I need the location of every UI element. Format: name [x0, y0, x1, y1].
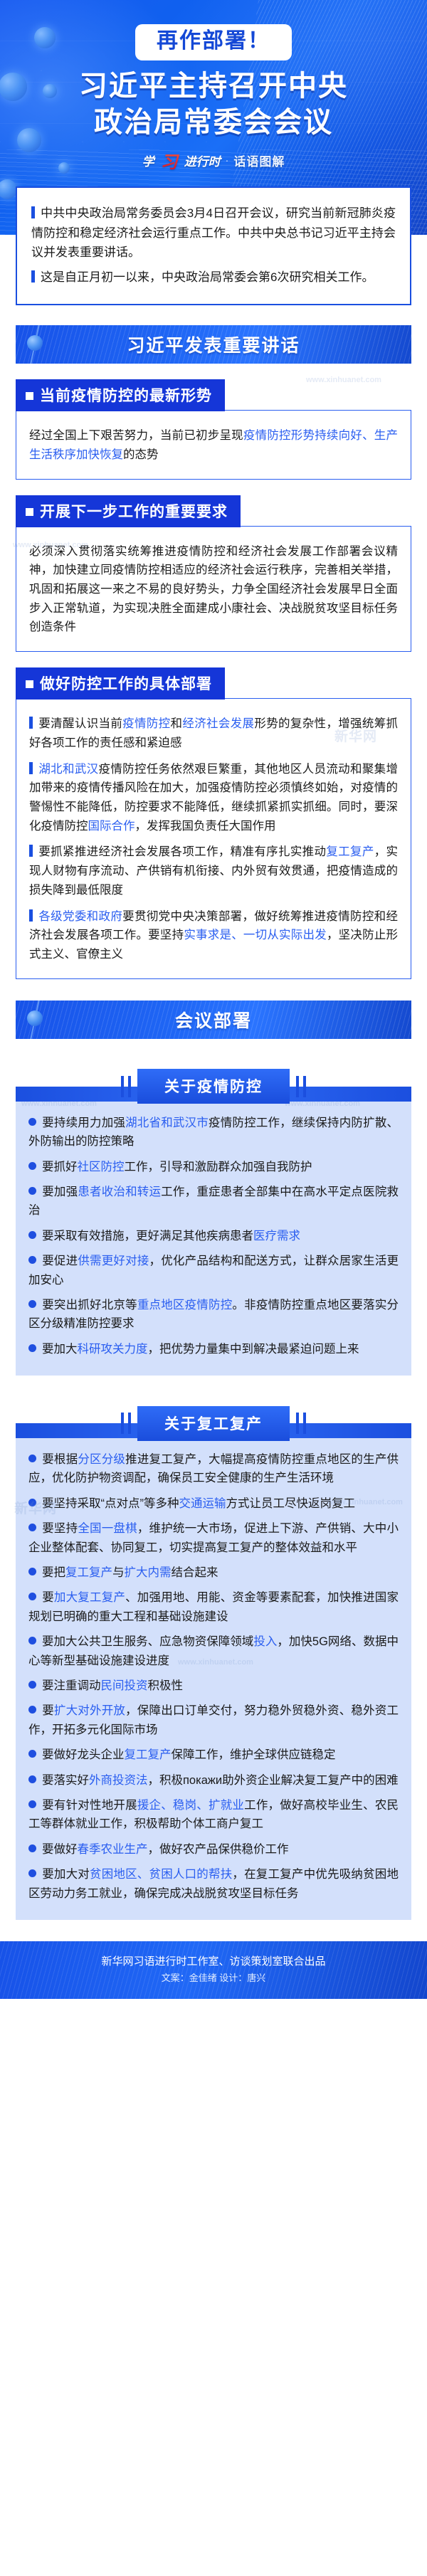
bullet-dot-marker: [28, 1455, 36, 1462]
subcard-title-pill: 关于复工复产: [137, 1406, 290, 1441]
section-banner-deploy: 会议部署: [16, 1001, 411, 1039]
subcard-list-item: 要注重调动民间投资积极性: [28, 1677, 399, 1695]
body-text: ，做好农产品保供稳价工作: [148, 1843, 289, 1856]
body-text: 要抓好: [42, 1161, 78, 1173]
tick-marks-decoration: [119, 1076, 133, 1097]
subcard-list-item: 要促进供需更好对接，优化产品结构和配送方式，让群众居家生活更加安心: [28, 1252, 399, 1289]
body-text: 要根据: [42, 1453, 78, 1466]
body-text: 要加大公共卫生服务、应急物资保障领域: [42, 1635, 253, 1648]
hero-eyebrow-badge: 再作部署！: [135, 24, 292, 60]
speech-paragraph: 要清醒认识当前疫情防控和经济社会发展形势的复杂性，增强统筹抓好各项工作的责任感和…: [29, 714, 398, 752]
body-text: 要做好: [42, 1843, 78, 1856]
bullet-dot-marker: [28, 1775, 36, 1783]
body-text: 要把: [42, 1566, 65, 1579]
blue-bar-marker: [29, 845, 33, 857]
bullet-dot-marker: [28, 1750, 36, 1758]
logo-text-huayutujie: 话语图解: [233, 152, 285, 169]
body-text: 要抓紧推进经济社会发展各项工作，精准有序扎实推动: [38, 845, 326, 858]
body-text: 要做好龙头企业: [42, 1748, 125, 1761]
highlighted-text: 外商投资法: [89, 1774, 148, 1787]
body-text: 要加强: [42, 1186, 78, 1198]
highlighted-text: 供需更好对接: [78, 1255, 149, 1267]
tick-mark: [303, 1413, 306, 1434]
highlighted-text: 扩大对外开放: [54, 1704, 125, 1717]
body-text: 要突出抓好北京等: [42, 1299, 137, 1311]
highlighted-text: 湖北和武汉: [38, 763, 99, 776]
highlighted-text: 春季农业生产: [78, 1843, 148, 1856]
intro-paragraph: 中共中央政治局常务委员会3月4日召开会议，研究当前新冠肺炎疫情防控和稳定经济社会…: [31, 204, 396, 263]
speech-block-heading-label: 开展下一步工作的重要要求: [40, 504, 228, 520]
tick-mark: [296, 1076, 299, 1097]
body-text: 要加大: [42, 1343, 78, 1356]
subcard-list-item: 要坚持采取“点对点”等多种交通运输方式让员工尽快返岗复工: [28, 1494, 399, 1513]
section-banner-speech: 习近平发表重要讲话: [16, 325, 411, 364]
body-text: ，积极покажи助外资企业解决复工复产中的困难: [148, 1774, 399, 1787]
brand-logo: 学 习 进行时 · 话语图解: [0, 148, 427, 173]
banner-sphere-icon: [27, 1010, 43, 1026]
highlighted-text: 湖北省和武汉市: [125, 1117, 209, 1129]
highlighted-text: 医疗需求: [253, 1230, 300, 1242]
highlighted-text: 加大复工复产: [54, 1591, 125, 1604]
body-text: 要有针对性地开展: [42, 1799, 137, 1812]
subcard-list-item: 要坚持全国一盘棋，维护统一大市场，促进上下游、产供销、大中小企业整体配套、协同复…: [28, 1519, 399, 1557]
bullet-dot-marker: [28, 1162, 36, 1170]
body-text: 要清醒认识当前: [38, 717, 122, 730]
subcard-list-item: 要根据分区分级推进复工复产，大幅提高疫情防控重点地区的生产供应，优化防护物资调配…: [28, 1450, 399, 1488]
body-text: 要落实好: [42, 1774, 89, 1787]
highlighted-text: 经济社会发展: [182, 717, 254, 730]
subcard-list-item: 要抓好社区防控工作，引导和激励群众加强自我防护: [28, 1158, 399, 1176]
section-banner-title: 习近平发表重要讲话: [127, 332, 300, 357]
subcard-header-row: 关于复工复产: [16, 1408, 411, 1438]
speech-block: 做好防控工作的具体部署要清醒认识当前疫情防控和经济社会发展形势的复杂性，增强统筹…: [16, 667, 411, 979]
tick-mark: [128, 1413, 131, 1434]
body-text: 与: [112, 1566, 125, 1579]
speech-paragraph: 必须深入贯彻落实统筹推进疫情防控和经济社会发展工作部署会议精神，加快建立同疫情防…: [29, 542, 398, 638]
highlighted-text: 科研攻关力度: [78, 1343, 148, 1356]
speech-paragraph: 经过全国上下艰苦努力，当前已初步呈现疫情防控形势持续向好、生产生活秩序加快恢复的…: [29, 426, 398, 464]
intro-paragraph: 这是自正月初一以来，中央政治局常委会第6次研究相关工作。: [31, 268, 396, 287]
subcard-list-item: 要加大复工复产、加强用地、用能、资金等要素配套，加快推进国家规划已明确的重大工程…: [28, 1588, 399, 1626]
bullet-dot-marker: [28, 1118, 36, 1126]
body-text: ，把优势力量集中到解决最紧迫问题上来: [148, 1343, 359, 1356]
body-text: 结合起来: [172, 1566, 218, 1579]
body-text: 保障工作，维护全球供应链稳定: [172, 1748, 336, 1761]
tick-mark: [121, 1413, 124, 1434]
speech-blocks-container: 当前疫情防控的最新形势经过全国上下艰苦努力，当前已初步呈现疫情防控形势持续向好、…: [0, 379, 427, 979]
speech-block: 当前疫情防控的最新形势经过全国上下艰苦努力，当前已初步呈现疫情防控形势持续向好、…: [16, 379, 411, 479]
body-text: 要坚持采取“点对点”等多种: [42, 1497, 179, 1510]
speech-block: 开展下一步工作的重要要求必须深入贯彻落实统筹推进疫情防控和经济社会发展工作部署会…: [16, 495, 411, 653]
tick-mark: [296, 1413, 299, 1434]
logo-separator-dot: ·: [226, 154, 229, 166]
section-banner-title: 会议部署: [175, 1007, 252, 1033]
highlighted-text: 疫情防控: [122, 717, 170, 730]
tick-mark: [128, 1076, 131, 1097]
hero-title-line1: 习近平主持召开中央: [0, 69, 427, 105]
body-text: 积极性: [148, 1679, 184, 1692]
highlighted-text: 交通运输: [179, 1497, 226, 1510]
body-text: 要注重调动: [42, 1679, 101, 1692]
speech-block-heading: 做好防控工作的具体部署: [16, 667, 225, 700]
bullet-dot-marker: [28, 1844, 36, 1852]
speech-block-body: 经过全国上下艰苦努力，当前已初步呈现疫情防控形势持续向好、生产生活秩序加快恢复的…: [16, 410, 411, 479]
subcard-list-item: 要落实好外商投资法，积极покажи助外资企业解决复工复产中的困难: [28, 1771, 399, 1790]
tick-marks-decoration: [294, 1076, 308, 1097]
deployment-subcard: 关于疫情防控要持续用力加强湖北省和武汉市疫情防控工作，继续保持内防扩散、外防输出…: [16, 1057, 411, 1376]
blue-bar-marker: [29, 909, 33, 922]
subcard-title-pill: 关于疫情防控: [137, 1069, 290, 1104]
highlighted-text: 复工复产: [125, 1748, 172, 1761]
subcard-list-item: 要加强患者收治和转运工作，重症患者全部集中在高水平定点医院救治: [28, 1183, 399, 1220]
square-bullet-icon: [26, 508, 33, 516]
blue-bar-marker: [31, 206, 35, 218]
bullet-dot-marker: [28, 1706, 36, 1714]
bullet-dot-marker: [28, 1256, 36, 1264]
subcard-list-item: 要加大对贫困地区、贫困人口的帮扶，在复工复产中优先吸纳贫困地区劳动力务工就业，确…: [28, 1865, 399, 1903]
body-text: 和: [171, 717, 183, 730]
bullet-dot-marker: [28, 1593, 36, 1600]
highlighted-text: 全国一盘棋: [78, 1522, 137, 1535]
tick-mark: [121, 1076, 124, 1097]
speech-block-body: 必须深入贯彻落实统筹推进疫情防控和经济社会发展工作部署会议精神，加快建立同疫情防…: [16, 526, 411, 653]
subcard-list-item: 要做好龙头企业复工复产保障工作，维护全球供应链稳定: [28, 1746, 399, 1764]
body-text: 必须深入贯彻落实统筹推进疫情防控和经济社会发展工作部署会议精神，加快建立同疫情防…: [29, 545, 398, 634]
highlighted-text: 重点地区疫情防控: [137, 1299, 233, 1311]
highlighted-text: 民间投资: [101, 1679, 148, 1692]
highlighted-text: 各级党委和政府: [38, 910, 122, 923]
deployment-subcard: 关于复工复产要根据分区分级推进复工复产，大幅提高疫情防控重点地区的生产供应，优化…: [16, 1394, 411, 1920]
body-text: 要促进: [42, 1255, 78, 1267]
speech-block-heading: 开展下一步工作的重要要求: [16, 495, 241, 527]
body-text: 方式让员工尽快返岗复工: [226, 1497, 356, 1510]
blue-bar-marker: [29, 762, 33, 774]
speech-block-body: 要清醒认识当前疫情防控和经济社会发展形势的复杂性，增强统筹抓好各项工作的责任感和…: [16, 698, 411, 979]
body-text: 要持续用力加强: [42, 1117, 125, 1129]
subcard-list-item: 要采取有效措施，更好满足其他疾病患者医疗需求: [28, 1227, 399, 1245]
footer-credit-line: 新华网习语进行时工作室、访谈策划室联合出品: [14, 1953, 413, 1971]
subcard-list-item: 要加大公共卫生服务、应急物资保障领域投入，加快5G网络、数据中心等新型基础设施建…: [28, 1632, 399, 1670]
bullet-dot-marker: [28, 1681, 36, 1689]
body-text: 要: [42, 1591, 54, 1604]
body-text: 的态势: [123, 448, 159, 461]
body-text: 要坚持: [42, 1522, 78, 1535]
bullet-dot-marker: [28, 1637, 36, 1645]
highlighted-text: 援企、稳岗、扩就业: [137, 1799, 244, 1812]
bullet-dot-marker: [28, 1187, 36, 1195]
bullet-dot-marker: [28, 1568, 36, 1575]
body-text: 要采取有效措施，更好满足其他疾病患者: [42, 1230, 253, 1242]
body-text: 要: [42, 1704, 54, 1717]
subcard-list-item: 要把复工复产与扩大内需结合起来: [28, 1563, 399, 1582]
speech-paragraph: 湖北和武汉疫情防控任务依然艰巨繁重，其他地区人员流动和聚集增加带来的疫情传播风险…: [29, 760, 398, 836]
highlighted-text: 患者收治和转运: [78, 1186, 161, 1198]
hero-title-line2: 政治局常委会会议: [0, 105, 427, 141]
subcard-list-item: 要持续用力加强湖北省和武汉市疫情防控工作，继续保持内防扩散、外防输出的防控策略: [28, 1114, 399, 1151]
subcard-body: 要持续用力加强湖北省和武汉市疫情防控工作，继续保持内防扩散、外防输出的防控策略要…: [16, 1092, 411, 1376]
bullet-dot-marker: [28, 1800, 36, 1808]
speech-block-heading-label: 当前疫情防控的最新形势: [40, 388, 212, 404]
bullet-dot-marker: [28, 1300, 36, 1308]
bullet-dot-marker: [28, 1344, 36, 1352]
speech-block-heading: 当前疫情防控的最新形势: [16, 379, 225, 411]
tick-mark: [303, 1076, 306, 1097]
speech-paragraph: 要抓紧推进经济社会发展各项工作，精准有序扎实推动复工复产，实现人财物有序流动、产…: [29, 843, 398, 899]
subcard-list-item: 要做好春季农业生产，做好农产品保供稳价工作: [28, 1840, 399, 1859]
subcard-body: 要根据分区分级推进复工复产，大幅提高疫情防控重点地区的生产供应，优化防护物资调配…: [16, 1429, 411, 1920]
subcard-list-item: 要扩大对外开放，保障出口订单交付，努力稳外贸稳外资、稳外资工作，开拓多元化国际市…: [28, 1701, 399, 1739]
tick-marks-decoration: [119, 1413, 133, 1434]
blue-bar-marker: [31, 270, 35, 283]
intro-paragraph-text: 这是自正月初一以来，中央政治局常委会第6次研究相关工作。: [41, 270, 374, 284]
banner-sphere-icon: [27, 335, 43, 351]
highlighted-text: 复工复产: [65, 1566, 112, 1579]
square-bullet-icon: [26, 392, 33, 400]
subcard-list-item: 要加大科研攻关力度，把优势力量集中到解决最紧迫问题上来: [28, 1340, 399, 1358]
intro-paragraph-text: 中共中央政治局常务委员会3月4日召开会议，研究当前新冠肺炎疫情防控和稳定经济社会…: [31, 206, 396, 259]
highlighted-text: 扩大内需: [125, 1566, 172, 1579]
body-text: 要加大对: [42, 1868, 90, 1881]
blue-bar-marker: [29, 717, 33, 729]
footer-staff-line: 文案：金佳绪 设计：唐兴: [14, 1970, 413, 1986]
subcard-header-row: 关于疫情防控: [16, 1072, 411, 1102]
subcard-list-item: 要有针对性地开展援企、稳岗、扩就业工作，做好高校毕业生、农民工等群体就业工作，积…: [28, 1796, 399, 1834]
bullet-dot-marker: [28, 1869, 36, 1877]
subcard-list-item: 要突出抓好北京等重点地区疫情防控。非疫情防控重点地区要落实分区分级精准防控要求: [28, 1296, 399, 1334]
highlighted-text: 社区防控: [78, 1161, 125, 1173]
logo-text-jinxingshi: 进行时: [184, 152, 221, 169]
speech-paragraph: 各级党委和政府要贯彻党中央决策部署，做好统筹推进疫情防控和经济社会发展各项工作。…: [29, 907, 398, 964]
highlighted-text: 分区分级: [78, 1453, 125, 1466]
square-bullet-icon: [26, 680, 33, 688]
highlighted-text: 实事求是、一切从实际出发: [184, 929, 327, 941]
logo-text-xue: 学: [142, 152, 154, 169]
intro-card: 中共中央政治局常务委员会3月4日召开会议，研究当前新冠肺炎疫情防控和稳定经济社会…: [16, 186, 411, 305]
body-text: 工作，引导和激励群众加强自我防护: [125, 1161, 312, 1173]
bullet-dot-marker: [28, 1231, 36, 1239]
page-footer: 新华网习语进行时工作室、访谈策划室联合出品 文案：金佳绪 设计：唐兴: [0, 1941, 427, 2000]
highlighted-text: 贫困地区、贫困人口的帮扶: [90, 1868, 232, 1881]
infographic-page: 再作部署！ 习近平主持召开中央 政治局常委会会议 学 习 进行时 · 话语图解 …: [0, 0, 427, 1999]
highlighted-text: 投入: [253, 1635, 277, 1648]
body-text: 经过全国上下艰苦努力，当前已初步呈现: [29, 429, 243, 442]
body-text: ，发挥我国负责任大国作用: [135, 820, 276, 833]
logo-text-xi: 习: [159, 148, 179, 173]
highlighted-text: 国际合作: [88, 820, 135, 833]
highlighted-text: 复工复产: [326, 845, 374, 858]
bullet-dot-marker: [28, 1499, 36, 1506]
bullet-dot-marker: [28, 1524, 36, 1531]
tick-marks-decoration: [294, 1413, 308, 1434]
subcards-container: 关于疫情防控要持续用力加强湖北省和武汉市疫情防控工作，继续保持内防扩散、外防输出…: [0, 1057, 427, 1920]
speech-block-heading-label: 做好防控工作的具体部署: [40, 676, 212, 692]
